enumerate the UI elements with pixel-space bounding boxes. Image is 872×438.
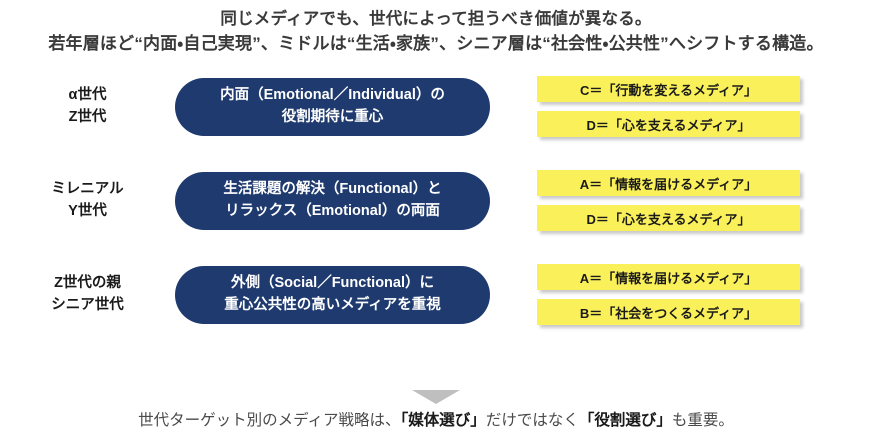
generation-label: α世代 Z世代 (0, 85, 175, 129)
triangle-down-icon (412, 390, 460, 404)
pill-line-2: 重心公共性の高いメディアを重視 (224, 295, 440, 317)
pill-cell: 外側（Social／Functional）に 重心公共性の高いメディアを重視 (175, 266, 505, 324)
generation-label-line-2: Z世代 (0, 107, 175, 129)
media-tag[interactable]: D＝「心を支えるメディア」 (537, 205, 800, 231)
generation-matrix: α世代 Z世代 内面（Emotional／Individual）の 役割期待に重… (0, 71, 872, 331)
media-tag-group: A＝「情報を届けるメディア」 D＝「心を支えるメディア」 (505, 170, 872, 231)
generation-label-line-1: ミレニアル (0, 179, 175, 201)
pill-line-2: リラックス（Emotional）の両面 (223, 201, 441, 223)
value-pill[interactable]: 生活課題の解決（Functional）と リラックス（Emotional）の両面 (175, 172, 490, 230)
media-tag-group: C＝「行動を変えるメディア」 D＝「心を支えるメディア」 (505, 76, 872, 137)
media-tag[interactable]: D＝「心を支えるメディア」 (537, 111, 800, 137)
generation-label-line-1: α世代 (0, 85, 175, 107)
footer: 世代ターゲット別のメディア戦略は、「媒体選び」だけではなく「役割選び」も重要。 (0, 390, 872, 432)
generation-label-line-2: シニア世代 (0, 295, 175, 317)
pill-cell: 生活課題の解決（Functional）と リラックス（Emotional）の両面 (175, 172, 505, 230)
footer-part-2: だけではなく (486, 412, 579, 429)
pill-cell: 内面（Emotional／Individual）の 役割期待に重心 (175, 78, 505, 136)
media-tag[interactable]: A＝「情報を届けるメディア」 (537, 264, 800, 290)
generation-label-line-1: Z世代の親 (0, 273, 175, 295)
footer-emphasis-2: 「役割選び」 (579, 412, 672, 429)
value-pill[interactable]: 外側（Social／Functional）に 重心公共性の高いメディアを重視 (175, 266, 490, 324)
generation-label: ミレニアル Y世代 (0, 179, 175, 223)
media-tag-group: A＝「情報を届けるメディア」 B＝「社会をつくるメディア」 (505, 264, 872, 325)
pill-line-1: 生活課題の解決（Functional）と (223, 179, 441, 201)
matrix-row: ミレニアル Y世代 生活課題の解決（Functional）と リラックス（Emo… (0, 165, 872, 237)
media-tag[interactable]: B＝「社会をつくるメディア」 (537, 299, 800, 325)
media-tag[interactable]: C＝「行動を変えるメディア」 (537, 76, 800, 102)
matrix-row: α世代 Z世代 内面（Emotional／Individual）の 役割期待に重… (0, 71, 872, 143)
header: 同じメディアでも、世代によって担うべき価値が異なる。 若年層ほど“内面・自己実現… (0, 0, 872, 57)
pill-line-1: 内面（Emotional／Individual）の (220, 85, 445, 107)
generation-label: Z世代の親 シニア世代 (0, 273, 175, 317)
pill-line-1: 外側（Social／Functional）に (224, 273, 440, 295)
footer-part-1: 世代ターゲット別のメディア戦略は、 (138, 412, 400, 429)
generation-label-line-2: Y世代 (0, 201, 175, 223)
media-tag[interactable]: A＝「情報を届けるメディア」 (537, 170, 800, 196)
footer-part-3: も重要。 (672, 412, 734, 429)
header-line-1: 同じメディアでも、世代によって担うべき価値が異なる。 (0, 8, 872, 32)
footer-emphasis-1: 「媒体選び」 (401, 412, 486, 429)
matrix-row: Z世代の親 シニア世代 外側（Social／Functional）に 重心公共性… (0, 259, 872, 331)
footer-conclusion: 世代ターゲット別のメディア戦略は、「媒体選び」だけではなく「役割選び」も重要。 (0, 410, 872, 432)
pill-line-2: 役割期待に重心 (220, 107, 445, 129)
header-line-2: 若年層ほど“内面・自己実現”、ミドルは“生活・家族”、シニア層は“社会性・公共性… (0, 32, 872, 57)
value-pill[interactable]: 内面（Emotional／Individual）の 役割期待に重心 (175, 78, 490, 136)
